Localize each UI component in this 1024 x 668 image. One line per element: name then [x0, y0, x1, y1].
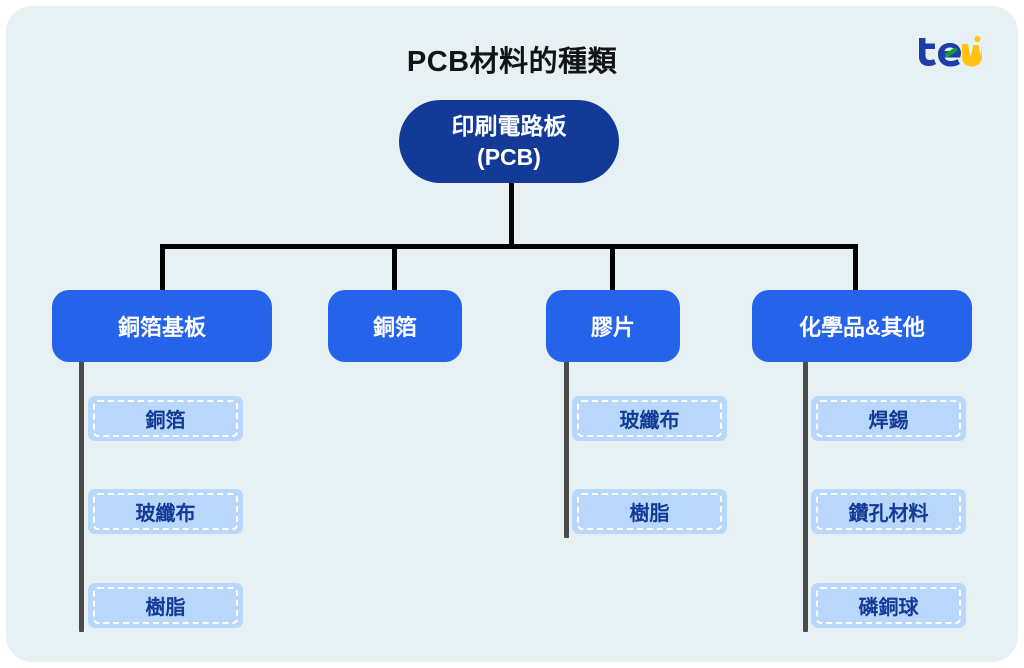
- leaf-node-label: 鑽孔材料: [816, 493, 961, 530]
- category-node-chemicals-other[interactable]: 化學品&其他: [752, 290, 972, 362]
- root-node-line1: 印刷電路板: [452, 111, 567, 142]
- connector-drop-3: [610, 244, 615, 294]
- leaf-node-label: 玻纖布: [93, 493, 238, 530]
- connector-drop-1: [160, 244, 165, 294]
- connector-horizontal-bus: [160, 244, 858, 249]
- leaf-node-label: 玻纖布: [577, 400, 722, 437]
- leaf-node[interactable]: 玻纖布: [572, 396, 727, 441]
- leaf-node[interactable]: 磷銅球: [811, 583, 966, 628]
- tej-logo-icon: [912, 34, 982, 70]
- leaf-node-label: 樹脂: [93, 587, 238, 624]
- diagram-canvas: PCB材料的種類 印刷電路板 (PCB) 銅箔基板 銅箔 膠片 化學品&其他: [0, 0, 1024, 668]
- category-node-copper-foil[interactable]: 銅箔: [328, 290, 462, 362]
- leaf-node[interactable]: 玻纖布: [88, 489, 243, 534]
- leaf-node[interactable]: 焊錫: [811, 396, 966, 441]
- leaf-node[interactable]: 樹脂: [572, 489, 727, 534]
- page-title: PCB材料的種類: [0, 38, 1024, 80]
- leaf-node[interactable]: 銅箔: [88, 396, 243, 441]
- root-node-line2: (PCB): [477, 142, 541, 173]
- spine-chemicals-other: [803, 360, 808, 632]
- connector-drop-2: [392, 244, 397, 294]
- leaf-node-label: 樹脂: [577, 493, 722, 530]
- connector-drop-4: [853, 244, 858, 294]
- leaf-node[interactable]: 鑽孔材料: [811, 489, 966, 534]
- leaf-node-label: 磷銅球: [816, 587, 961, 624]
- leaf-node-label: 銅箔: [93, 400, 238, 437]
- category-node-prepreg[interactable]: 膠片: [546, 290, 680, 362]
- connector-root-stem: [509, 183, 514, 248]
- leaf-node-label: 焊錫: [816, 400, 961, 437]
- spine-prepreg: [564, 360, 569, 538]
- category-node-copper-clad-laminate[interactable]: 銅箔基板: [52, 290, 272, 362]
- leaf-node[interactable]: 樹脂: [88, 583, 243, 628]
- root-node-pcb[interactable]: 印刷電路板 (PCB): [399, 100, 619, 183]
- spine-copper-clad-laminate: [79, 360, 84, 632]
